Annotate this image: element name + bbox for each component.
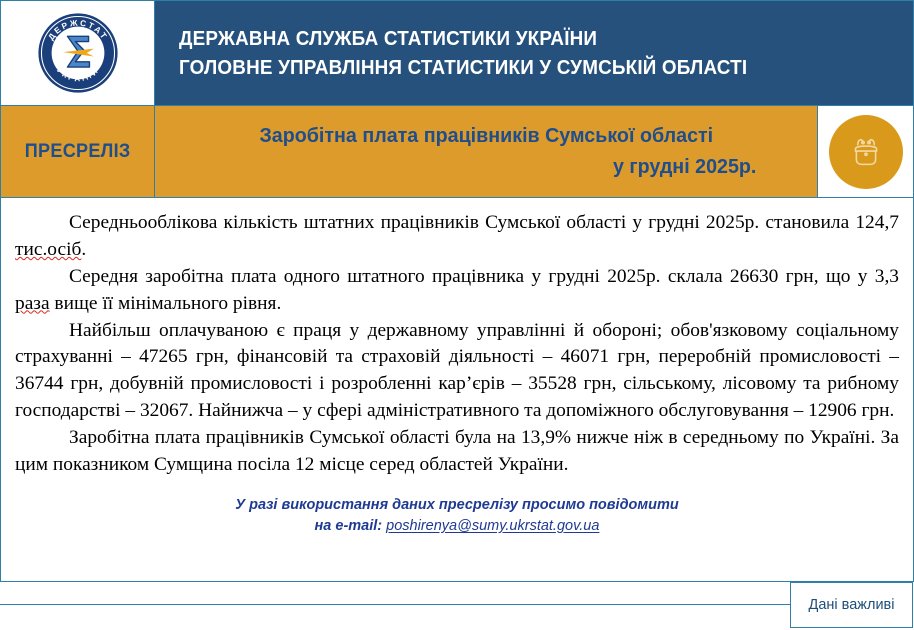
press-release-banner: ПРЕСРЕЛІЗ Заробітна плата працівників Су…: [0, 105, 914, 197]
press-release-page: ДЕРЖСТАТ УКРАЇНИ ДЕРЖАВНА СЛУЖБА СТАТИСТ…: [0, 0, 914, 630]
body-paragraph: Найбільш оплачуваною є праця у державном…: [15, 318, 899, 426]
press-release-tag-label: ПРЕСРЕЛІЗ: [25, 141, 131, 163]
data-important-badge[interactable]: Дані важливі: [790, 582, 913, 628]
usage-note-line-2: на e-mail: poshirenya@sumy.ukrstat.gov.u…: [15, 516, 899, 537]
usage-note-email-prefix: на e-mail:: [315, 518, 387, 534]
usage-note: У разі використання даних пресрелізу про…: [15, 495, 899, 537]
body-paragraph-list: Середньооблікова кількість штатних праці…: [15, 210, 899, 479]
paragraph-text: Середньооблікова кількість штатних праці…: [69, 212, 899, 233]
body-paragraph: Середньооблікова кількість штатних праці…: [15, 210, 899, 264]
purse-icon: [829, 115, 903, 189]
paragraph-text: .: [81, 239, 86, 260]
agency-title-cell: ДЕРЖАВНА СЛУЖБА СТАТИСТИКИ УКРАЇНИ ГОЛОВ…: [155, 1, 913, 105]
page-header: ДЕРЖСТАТ УКРАЇНИ ДЕРЖАВНА СЛУЖБА СТАТИСТ…: [0, 0, 914, 105]
body-paragraph: Середня заробітна плата одного штатного …: [15, 264, 899, 318]
footer-divider: [0, 604, 790, 605]
agency-title-line-1: ДЕРЖАВНА СЛУЖБА СТАТИСТИКИ УКРАЇНИ: [179, 24, 854, 53]
spellcheck-marked-text: раза: [15, 293, 50, 314]
derzhstat-emblem-logo: ДЕРЖСТАТ УКРАЇНИ: [34, 9, 122, 97]
release-title-line-2: у грудні 2025р.: [613, 152, 756, 183]
press-release-body: Середньооблікова кількість штатних праці…: [0, 197, 914, 582]
paragraph-text: Середня заробітна плата одного штатного …: [69, 266, 899, 287]
paragraph-text: Заробітна плата працівників Сумської обл…: [15, 427, 899, 475]
paragraph-text: Найбільш оплачуваною є праця у державном…: [15, 320, 899, 422]
data-important-label: Дані важливі: [809, 597, 895, 613]
agency-logo-cell: ДЕРЖСТАТ УКРАЇНИ: [1, 1, 155, 105]
banner-icon-cell: [817, 106, 913, 197]
agency-title-line-2: ГОЛОВНЕ УПРАВЛІННЯ СТАТИСТИКИ У СУМСЬКІЙ…: [179, 53, 854, 82]
page-footer-strip: Дані важливі: [0, 582, 914, 630]
release-title-line-1: Заробітна плата працівників Сумської обл…: [259, 121, 713, 152]
body-paragraph: Заробітна плата працівників Сумської обл…: [15, 425, 899, 479]
usage-note-line-1: У разі використання даних пресрелізу про…: [235, 497, 678, 513]
spellcheck-marked-text: тис.осіб: [15, 239, 81, 260]
paragraph-text: вище її мінімального рівня.: [50, 293, 282, 314]
press-release-tag-cell: ПРЕСРЕЛІЗ: [1, 106, 155, 197]
release-title-cell: Заробітна плата працівників Сумської обл…: [155, 106, 817, 197]
contact-email-link[interactable]: poshirenya@sumy.ukrstat.gov.ua: [386, 518, 599, 534]
